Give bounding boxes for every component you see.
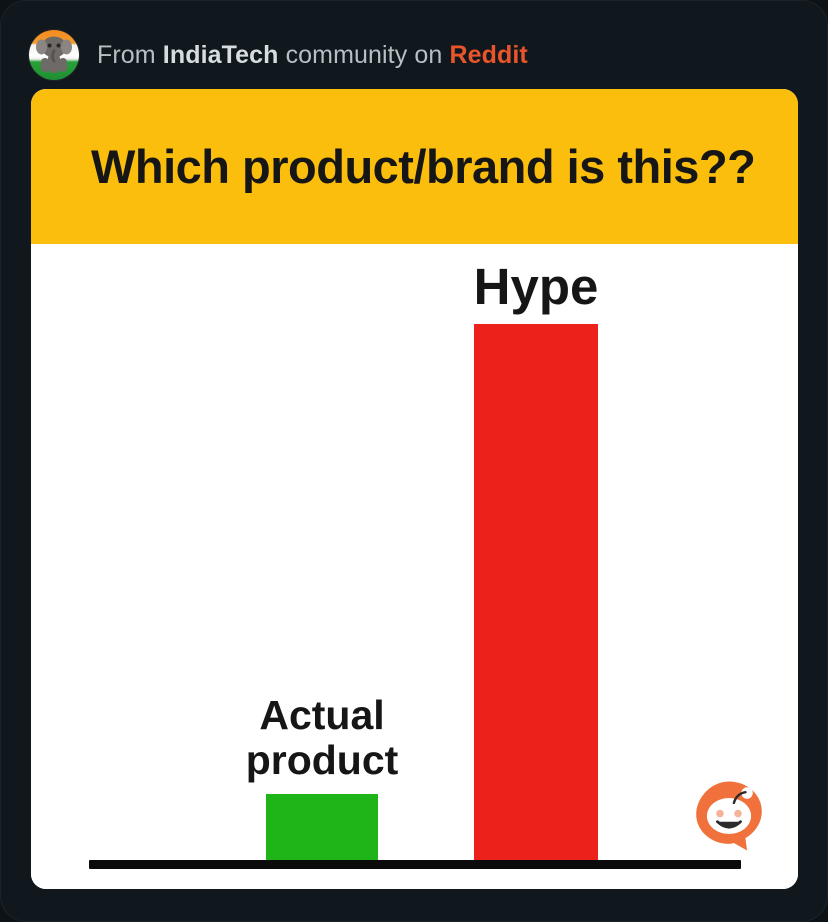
- bar-label-actual-product: Actual product: [222, 693, 422, 782]
- attribution-text: From IndiaTech community on Reddit: [97, 41, 528, 70]
- bar-label-hype: Hype: [444, 259, 628, 314]
- attribution-prefix: From: [97, 41, 156, 69]
- bar-label-actual-line1: Actual: [259, 692, 384, 738]
- bar-actual-product: [266, 794, 378, 869]
- community-name[interactable]: IndiaTech: [163, 41, 279, 69]
- page-title: Which product/brand is this??: [91, 139, 755, 194]
- attribution-header[interactable]: From IndiaTech community on Reddit: [29, 27, 528, 83]
- chart-baseline-axis: [89, 860, 741, 869]
- bar-chart: Hype Actual product: [31, 244, 798, 889]
- reddit-snoo-icon: [688, 775, 770, 857]
- meme-image-card[interactable]: Which product/brand is this?? Hype Actua…: [31, 89, 798, 889]
- reddit-embed-card: From IndiaTech community on Reddit Which…: [0, 0, 828, 922]
- bar-label-actual-line2: product: [222, 738, 422, 782]
- title-banner: Which product/brand is this??: [31, 89, 798, 244]
- bar-hype: [474, 324, 598, 869]
- attribution-middle: community on: [286, 41, 443, 69]
- india-tech-elephant-avatar-icon[interactable]: [29, 30, 79, 80]
- platform-name[interactable]: Reddit: [449, 41, 527, 69]
